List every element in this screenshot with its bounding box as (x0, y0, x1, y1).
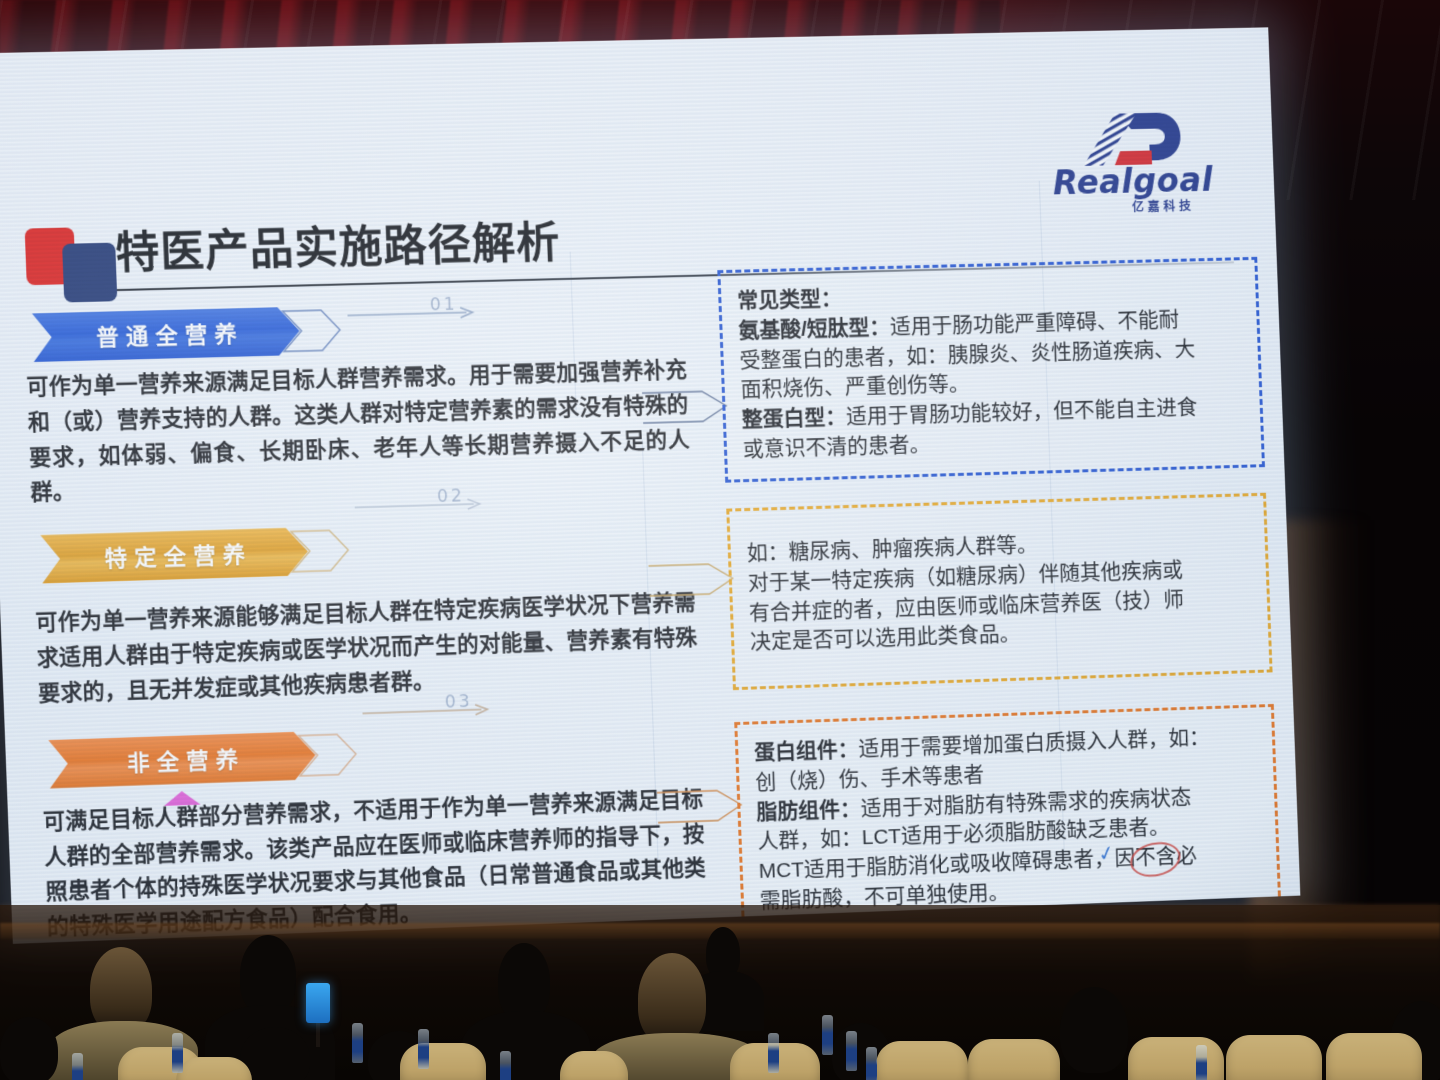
water-bottle (72, 1053, 83, 1080)
banner-specific-full-nutrition: 特定全营养 (40, 527, 308, 583)
section-band-3: 非全营养 03 (40, 712, 708, 795)
water-bottle (768, 1033, 779, 1073)
audience-chair (560, 1051, 628, 1080)
slide-content: Realgoal 亿嘉科技 特医产品实施路径解析 普通全营养 (0, 27, 1300, 944)
detail-label: 常见类型： (737, 287, 842, 313)
banner-ghost-outline (280, 308, 344, 354)
section-number-2: 02 (437, 487, 466, 508)
water-bottle (172, 1033, 183, 1073)
detail-box-2-text: 如：糖尿病、肿瘤疾病人群等。 对于某一特定疾病（如糖尿病）伴随其他疾病或 有合并… (746, 510, 1255, 658)
water-bottle (846, 1031, 857, 1071)
right-column: 常见类型： 氨基酸/短肽型：适用于肠功能严重障碍、不能耐 受整蛋白的患者，如：胰… (717, 257, 1282, 944)
section-paragraph-2: 可作为单一营养来源能够满足目标人群在特定疾病医学状况下营养需求适用人群由于特定疾… (35, 586, 705, 712)
detail-label: 氨基酸/短肽型： (738, 316, 890, 343)
section-paragraph-1: 可作为单一营养来源满足目标人群营养需求。用于需要加强营养补充和（或）营养支持的人… (26, 353, 698, 511)
audience-head (638, 953, 706, 1045)
logo-mark-icon (1032, 109, 1230, 169)
banner-non-full-nutrition: 非全营养 (48, 731, 316, 788)
water-bottle (352, 1023, 363, 1063)
audience-area (0, 905, 1440, 1080)
audience-chair (1128, 1037, 1224, 1080)
detail-box-1: 常见类型： 氨基酸/短肽型：适用于肠功能严重障碍、不能耐 受整蛋白的患者，如：胰… (717, 257, 1265, 483)
phone-screen (306, 983, 330, 1023)
detail-label: 整蛋白型： (741, 406, 846, 432)
banner-ghost-outline (296, 732, 360, 778)
section-band-2: 特定全营养 02 (32, 510, 701, 590)
detail-text: 适用于胃肠功能较好，但不能自主进食 (846, 396, 1198, 429)
audience-head (240, 935, 296, 1015)
detail-text: 决定是否可以选用此类食品。 (750, 622, 1021, 654)
banner-ghost-outline (289, 528, 353, 574)
audience-chair (1326, 1033, 1422, 1080)
water-bottle (822, 1015, 833, 1055)
presentation-photo: Realgoal 亿嘉科技 特医产品实施路径解析 普通全营养 (0, 0, 1440, 1080)
detail-text: 面积烧伤、严重创伤等。 (740, 373, 970, 402)
audience-chair (968, 1039, 1060, 1080)
decor-square-navy (62, 243, 117, 303)
projection-screen: Realgoal 亿嘉科技 特医产品实施路径解析 普通全营养 (0, 27, 1300, 944)
detail-label: 脂肪组件： (756, 797, 861, 824)
audience-chair (1226, 1035, 1322, 1080)
water-bottle (1196, 1045, 1207, 1080)
detail-text: 适用于肠功能严重障碍、不能耐 (890, 308, 1180, 338)
audience-chair (876, 1041, 968, 1080)
section-number-3: 03 (445, 692, 474, 713)
audience-head (1060, 987, 1128, 1073)
page-title: 特医产品实施路径解析 (114, 208, 561, 281)
detail-box-3-text: 蛋白组件：适用于需要增加蛋白质摄入人群，如： 创（烧）伤、手术等患者 脂肪组件：… (754, 721, 1265, 916)
water-bottle (418, 1029, 429, 1069)
detail-text: 或意识不清的患者。 (743, 433, 931, 461)
connector-arrow-2 (646, 555, 737, 604)
detail-text: 创（烧）伤、手术等患者 (755, 763, 985, 794)
connector-arrow-1 (640, 383, 731, 431)
audience-head (0, 1017, 58, 1080)
banner-ordinary-full-nutrition: 普通全营养 (32, 307, 300, 362)
section-number-1: 01 (430, 295, 459, 316)
detail-box-2: 如：糖尿病、肿瘤疾病人群等。 对于某一特定疾病（如糖尿病）伴随其他疾病或 有合并… (726, 493, 1272, 690)
detail-text: 如：糖尿病、肿瘤疾病人群等。 (746, 533, 1038, 565)
detail-label: 蛋白组件： (754, 738, 859, 764)
detail-box-1-text: 常见类型： 氨基酸/短肽型：适用于肠功能严重障碍、不能耐 受整蛋白的患者，如：胰… (737, 274, 1248, 465)
left-column: 普通全营养 01 (24, 291, 714, 944)
water-bottle (866, 1047, 877, 1080)
audience-head (498, 943, 550, 1021)
audience-chair (400, 1043, 486, 1080)
water-bottle (500, 1051, 511, 1080)
connector-arrow-3 (655, 782, 746, 831)
audience-chair (176, 1057, 252, 1080)
